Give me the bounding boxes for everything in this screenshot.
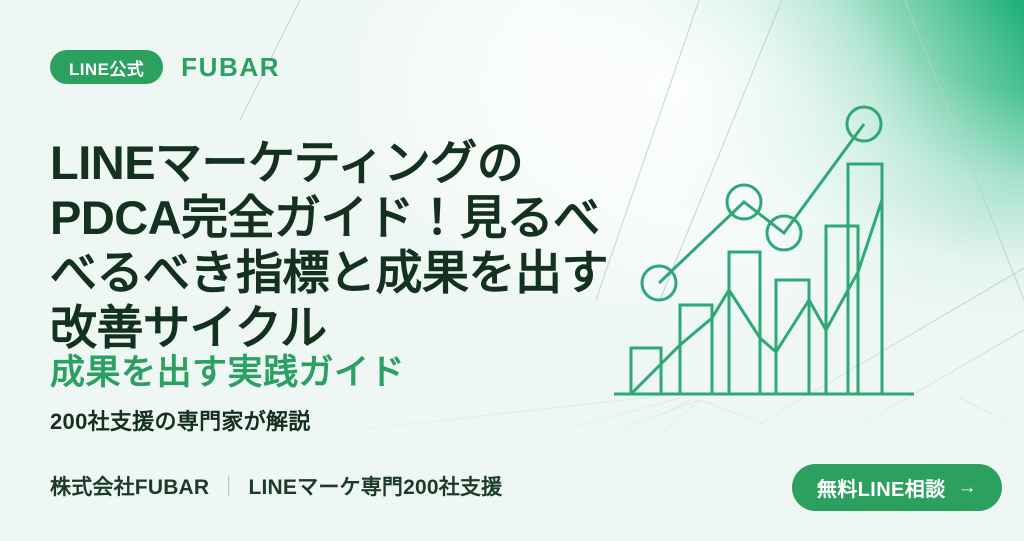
footer-credit: 株式会社FUBAR ｜ LINEマーケ専門200社支援 [50, 474, 502, 502]
headline-line-4: 改善サイクル [50, 300, 700, 355]
brand-name: FUBAR [181, 52, 280, 83]
content-column: LINE公式 FUBAR LINEマーケティングの PDCA完全ガイド！見るべ … [50, 0, 690, 541]
chart-node-3 [767, 216, 801, 250]
footer-company: 株式会社FUBAR [50, 474, 209, 502]
footer-separator: ｜ [218, 474, 239, 502]
page-title: LINEマーケティングの PDCA完全ガイド！見るべ べるべき指標と成果を出す … [50, 135, 700, 355]
cta-label: 無料LINE相談 [817, 473, 946, 502]
free-line-consult-button[interactable]: 無料LINE相談 → [792, 464, 1002, 511]
banner-root: LINE公式 FUBAR LINEマーケティングの PDCA完全ガイド！見るべ … [0, 0, 1024, 541]
arrow-right-icon: → [958, 478, 977, 497]
chart-bar-4 [776, 280, 809, 394]
line-official-badge: LINE公式 [50, 50, 163, 84]
brand-row: LINE公式 FUBAR [50, 50, 280, 84]
chart-bar-3 [729, 252, 760, 394]
headline-line-3: べるべき指標と成果を出す [50, 245, 700, 300]
footer-tagline: LINEマーケ専門200社支援 [249, 474, 503, 502]
subheading: 成果を出す実践ガイド [50, 352, 405, 394]
chart-node-4 [847, 107, 881, 141]
support-note: 200社支援の専門家が解説 [50, 407, 311, 437]
headline-line-1: LINEマーケティングの [50, 135, 700, 190]
headline-line-2: PDCA完全ガイド！見るべ [50, 190, 700, 245]
chart-node-2 [727, 185, 761, 219]
chart-bar-5 [826, 226, 858, 394]
chart-bar-6 [848, 164, 882, 394]
